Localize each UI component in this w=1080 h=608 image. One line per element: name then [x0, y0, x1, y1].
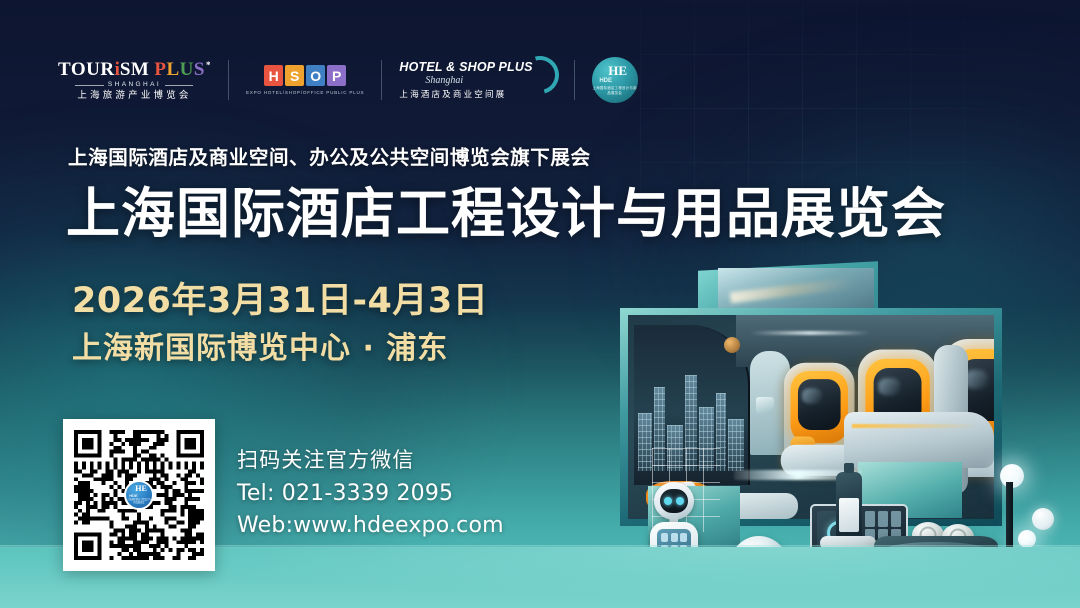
tourism-superscript: *: [206, 61, 211, 70]
hsop-square-p: P: [327, 65, 346, 86]
tourism-shanghai-text: SHANGHAI: [104, 82, 165, 89]
logo-divider-2: [381, 60, 382, 100]
wall-clock-icon: [724, 337, 740, 353]
qr-code-area: HE HDE 上海国际酒店工程设计与用品展览会: [74, 430, 204, 560]
hde-circle-logo[interactable]: HE HDE 上海国际酒店工程设计与用品展览会: [592, 57, 638, 103]
event-title: 上海国际酒店工程设计与用品展览会: [66, 186, 946, 243]
tourism-chinese-name: 上海旅游产业博览会: [77, 91, 191, 101]
qr-logo-subtext: HDE: [129, 493, 137, 498]
tourism-plus-s: S: [194, 60, 205, 79]
toiletry-bottle: [836, 472, 862, 546]
robot-face-screen: [660, 489, 688, 513]
tourism-plus-u: U: [180, 60, 194, 79]
event-venue: 上海新国际博览中心 · 浦东: [72, 323, 448, 367]
hotel-shop-plus-line1: HOTEL & SHOP PLUS: [399, 60, 532, 74]
tourism-plus-shanghai-logo[interactable]: TOURiSMPLUS* SHANGHAI 上海旅游产业博览会: [58, 60, 211, 100]
promotional-banner: TOURiSMPLUS* SHANGHAI 上海旅游产业博览会 H S O P …: [0, 0, 1080, 608]
qr-logo-chinese: 上海国际酒店工程设计与用品展览会: [126, 499, 152, 505]
qr-caption: 扫码关注官方微信: [237, 444, 504, 474]
hotel-shop-plus-line3: 上海酒店及商业空间展: [399, 88, 506, 100]
robot-eye-left: [664, 497, 672, 505]
qr-center-logo: HE HDE 上海国际酒店工程设计与用品展览会: [124, 480, 154, 510]
pod-window: [798, 379, 841, 430]
qr-logo-mark: HE: [135, 485, 147, 493]
robot-eye-right: [676, 497, 684, 505]
hotel-shop-plus-logo[interactable]: HOTEL & SHOP PLUS Shanghai 上海酒店及商业空间展: [399, 60, 556, 100]
tourism-plus-l: L: [166, 60, 179, 79]
hsop-caption: EXPO HOTEL/SHOP/OFFICE PUBLIC PLUS: [246, 90, 364, 95]
hde-chinese-name: 上海国际酒店工程设计与用品展览会: [592, 86, 638, 95]
hsop-logo[interactable]: H S O P EXPO HOTEL/SHOP/OFFICE PUBLIC PL…: [246, 65, 364, 95]
hotel-shop-plus-line2: Shanghai: [425, 75, 463, 86]
tourism-plus-wordmark: TOURiSMPLUS*: [58, 60, 211, 79]
logo-divider-3: [574, 60, 575, 100]
partner-logo-strip: TOURiSMPLUS* SHANGHAI 上海旅游产业博览会 H S O P …: [58, 52, 638, 108]
hsop-square-h: H: [264, 65, 283, 86]
event-subtitle: 上海国际酒店及商业空间、办公及公共空间博览会旗下展会: [68, 141, 591, 170]
hsop-square-o: O: [306, 65, 325, 86]
robot-head: [654, 482, 694, 520]
website-url[interactable]: Web:www.hdeexpo.com: [237, 513, 504, 538]
tourism-plus-p: P: [154, 60, 166, 79]
hsop-letter-squares: H S O P: [264, 65, 346, 86]
telephone-number[interactable]: Tel: 021-3339 2095: [237, 481, 504, 506]
logo-divider-1: [228, 60, 229, 100]
contact-block: 扫码关注官方微信 Tel: 021-3339 2095 Web:www.hdee…: [237, 444, 504, 538]
hsop-square-s: S: [285, 65, 304, 86]
hde-subtext: HDE: [599, 78, 612, 84]
tourism-shanghai-rule: SHANGHAI: [75, 82, 193, 89]
foreground-bed: [844, 412, 994, 468]
wechat-qr-card[interactable]: HE HDE 上海国际酒店工程设计与用品展览会: [63, 419, 215, 571]
tourism-word-sm: SM: [120, 60, 150, 79]
tourism-word-tour: TOUR: [58, 60, 115, 79]
hotel-shop-plus-arc-icon: [514, 49, 566, 101]
hde-mark: HE: [608, 64, 627, 77]
event-date: 2026年3月31日-4月3日: [72, 272, 488, 323]
